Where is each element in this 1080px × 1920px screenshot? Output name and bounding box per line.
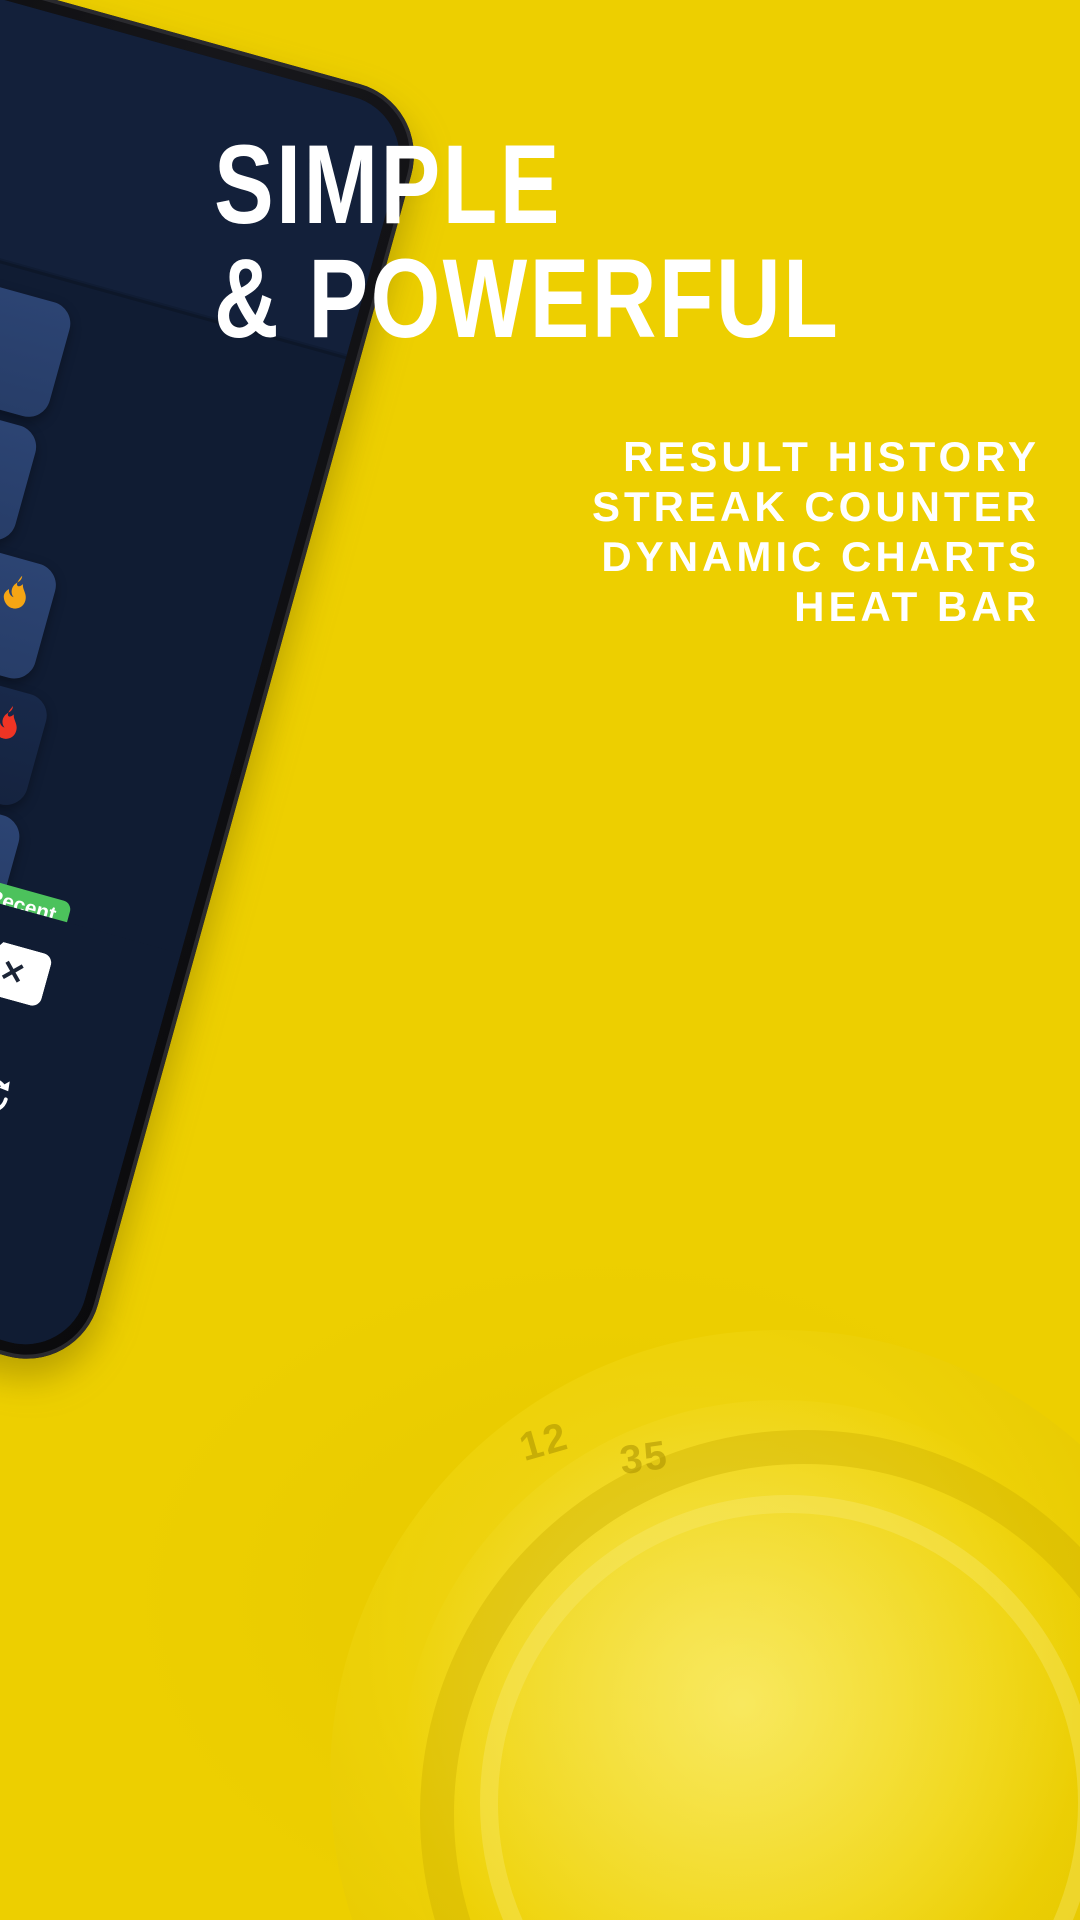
headline-line-2: & POWERFUL bbox=[214, 242, 774, 356]
refresh-icon[interactable] bbox=[0, 1067, 19, 1124]
backspace-icon[interactable]: ✕ bbox=[0, 937, 54, 1008]
feature-item-result-history: RESULT HISTORY bbox=[0, 432, 1040, 482]
feature-item-dynamic-charts: DYNAMIC CHARTS bbox=[0, 532, 1040, 582]
feature-item-streak-counter: STREAK COUNTER bbox=[0, 482, 1040, 532]
wheel-number: 35 bbox=[617, 1433, 671, 1484]
feature-list: RESULT HISTORY STREAK COUNTER DYNAMIC CH… bbox=[0, 432, 1040, 632]
headline: SIMPLE & POWERFUL bbox=[214, 128, 914, 356]
feature-item-heat-bar: HEAT BAR bbox=[0, 582, 1040, 632]
headline-line-1: SIMPLE bbox=[214, 128, 774, 242]
